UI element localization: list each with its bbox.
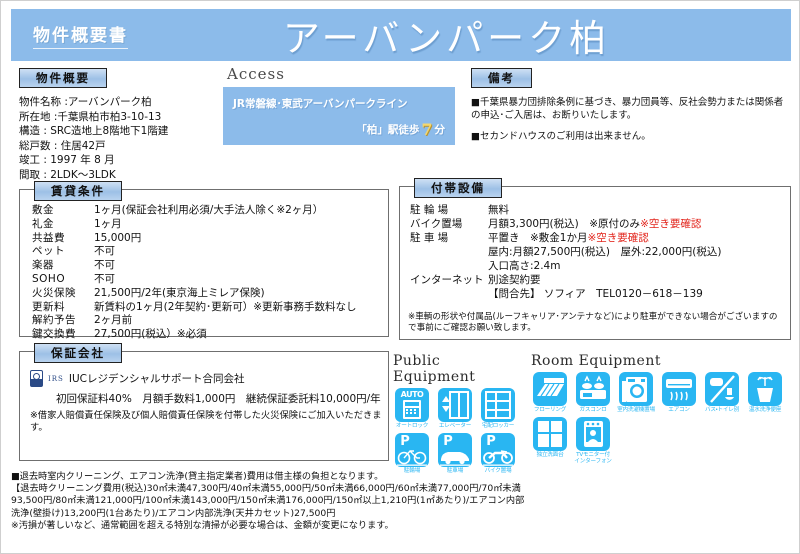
gas-stove-icon (576, 372, 610, 406)
rent-row-value: 新賃料の1ヶ月(2年契約･更新可）※更新事務手数料なし (94, 301, 388, 315)
guarantee-logo-mark: IRS (48, 372, 64, 386)
rent-conditions-list: 敷金 1ヶ月(保証会社利用必須/大手法人除く※2ヶ月） 礼金 1ヶ月 共益費 1… (20, 190, 388, 342)
rent-row-key: 解約予告 (32, 314, 94, 328)
facility-value: 平置き ※敷金1か月※空き要確認 (488, 231, 790, 245)
rent-row: ペット 不可 (32, 245, 388, 259)
rent-row-key: 楽器 (32, 259, 94, 273)
guarantee-company-name: IUCレジデンシャルサポート合同会社 (69, 372, 245, 386)
bottom-note-line: 93,500円/80㎡未満121,000円/100㎡未満143,000円/150… (11, 495, 795, 507)
parking-detail-indoor-outdoor: 屋内:月額27,500円(税込) 屋外:22,000円(税込) (410, 245, 790, 259)
remarks-tab: 備考 (471, 68, 532, 88)
rent-row: 楽器 不可 (32, 259, 388, 273)
equipment-label: エアコン (658, 407, 699, 414)
equipment-label: 独立洗面台 (529, 452, 570, 459)
room-equipment-grid: フローリング ガスコンロ (531, 372, 793, 465)
room-equipment-column: Room Equipment フローリング (531, 353, 793, 474)
rent-row-value: 27,500円(税込）※必須 (94, 328, 388, 342)
remark-item: ■千葉県暴力団排除条例に基づき、暴力団員等、反社会勢力または関係者の申込･ご入居… (471, 96, 791, 122)
rent-row: 火災保険 21,500円/2年(東京海上ミレア保険) (32, 287, 388, 301)
auto-lock-icon: AUTO (395, 388, 429, 422)
equipment-label: バス・トイレ別 (701, 407, 742, 414)
remark-item: ■セカンドハウスのご利用は出来ません。 (471, 130, 791, 143)
facility-vacancy-alert: ※空き要確認 (587, 232, 648, 244)
rent-row: 礼金 1ヶ月 (32, 218, 388, 232)
elevator-icon (438, 388, 472, 422)
equipment-item: P 駐車場 (436, 433, 474, 474)
equipment-item: フローリング (531, 372, 569, 413)
equipment-icons-section: Public Equipment AUTO (393, 353, 793, 463)
rent-row-value: 不可 (94, 245, 388, 259)
guarantee-logo-row: IRS IUCレジデンシャルサポート合同会社 (30, 370, 388, 387)
internet-contact: 【問合先】 ソフィア TEL0120－618－139 (410, 287, 790, 301)
facility-key: 駐 車 場 (410, 231, 488, 245)
rent-row-key: 礼金 (32, 218, 94, 232)
document-subtitle: 物件概要書 (33, 21, 128, 49)
facility-row-bike: バイク置場 月額3,300円(税込) ※原付のみ※空き要確認 (410, 217, 790, 231)
equipment-columns: Public Equipment AUTO (393, 353, 793, 474)
facility-value: 別途契約要 (488, 273, 790, 287)
equipment-label: エレベーター (434, 423, 475, 430)
rent-conditions-panel: 賃貸条件 敷金 1ヶ月(保証会社利用必須/大手法人除く※2ヶ月） 礼金 1ヶ月 … (19, 189, 389, 337)
equipment-item: AUTO オートロック (393, 388, 431, 429)
facility-row-parking: 駐 車 場 平置き ※敷金1か月※空き要確認 (410, 231, 790, 245)
public-equipment-title: Public Equipment (393, 353, 517, 385)
washlet-icon (748, 372, 782, 406)
rent-row-value: 2ヶ月前 (94, 314, 388, 328)
property-summary-lines: 物件名称 :アーバンパーク柏 所在地 :千葉県柏市柏3-10-13 構造 : S… (19, 95, 229, 182)
access-title: Access (227, 65, 455, 83)
air-conditioner-icon (662, 372, 696, 406)
rent-row: 解約予告 2ヶ月前 (32, 314, 388, 328)
equipment-label: 室内洗濯機置場 (615, 407, 656, 414)
property-line: 物件名称 :アーバンパーク柏 (19, 95, 229, 110)
bottom-note-line: 【退去時クリーニング費用(税込)30㎡未満47,300円/40㎡未満55,000… (11, 483, 795, 495)
property-line: 構造 : SRC造地上8階地下1階建 (19, 124, 229, 139)
equipment-label: フローリング (529, 407, 570, 414)
remarks-section: 備考 ■千葉県暴力団排除条例に基づき、暴力団員等、反社会勢力または関係者の申込･… (471, 67, 791, 151)
public-equipment-column: Public Equipment AUTO (393, 353, 517, 474)
property-summary-document: 物件概要書 アーバンパーク柏 物件概要 物件名称 :アーバンパーク柏 所在地 :… (0, 0, 800, 554)
rent-row: 共益費 15,000円 (32, 232, 388, 246)
property-line: 所在地 :千葉県柏市柏3-10-13 (19, 110, 229, 125)
station-walk-prefix: 「柏」駅徒歩 (356, 124, 419, 136)
facility-row-bicycle: 駐 輪 場 無料 (410, 203, 790, 217)
guarantee-note: ※借家人賠償責任保険及び個人賠償責任保険を付帯した火災保険にご加入いただきます。 (30, 410, 388, 433)
property-name-title: アーバンパーク柏 (128, 8, 765, 62)
equipment-label: 宅配ロッカー (477, 423, 518, 430)
car-parking-icon: P (438, 433, 472, 467)
washer-space-icon (619, 372, 653, 406)
facility-value-text: 平置き ※敷金1か月 (488, 232, 587, 244)
rent-row-value: 不可 (94, 273, 388, 287)
rent-row-value: 21,500円/2年(東京海上ミレア保険) (94, 287, 388, 301)
rent-row-key: 共益費 (32, 232, 94, 246)
rent-row: 更新料 新賃料の1ヶ月(2年契約･更新可）※更新事務手数料なし (32, 301, 388, 315)
rent-row: 敷金 1ヶ月(保証会社利用必須/大手法人除く※2ヶ月） (32, 204, 388, 218)
facility-key: 駐 輪 場 (410, 203, 488, 217)
guarantee-logo-icon (30, 370, 43, 387)
equipment-item: バス・トイレ別 (703, 372, 741, 413)
public-equipment-grid: AUTO オートロック (393, 388, 517, 474)
equipment-item: TVモニター付 インターフォン (574, 417, 612, 464)
equipment-label: ガスコンロ (572, 407, 613, 414)
rent-row-key: 更新料 (32, 301, 94, 315)
rent-row-value: 15,000円 (94, 232, 388, 246)
bottom-notes: ■退去時室内クリーニング、エアコン洗浄(貸主指定業者)費用は借主様の負担となりま… (11, 471, 795, 532)
equipment-label: オートロック (391, 423, 432, 430)
rent-row-key: 敷金 (32, 204, 94, 218)
equipment-item: 独立洗面台 (531, 417, 569, 464)
station-walk-suffix: 分 (435, 124, 446, 136)
facilities-note: ※車輌の形状や付属品(ルーフキャリア･アンテナなど)により駐車ができない場合がご… (408, 312, 782, 333)
remarks-body: ■千葉県暴力団排除条例に基づき、暴力団員等、反社会勢力または関係者の申込･ご入居… (471, 96, 791, 143)
access-line-walk: 「柏」駅徒歩7分 (233, 120, 445, 139)
facility-vacancy-alert: ※空き要確認 (640, 218, 701, 230)
room-equipment-title: Room Equipment (531, 353, 793, 369)
facilities-list: 駐 輪 場 無料 バイク置場 月額3,300円(税込) ※原付のみ※空き要確認 … (400, 187, 790, 301)
equipment-item: ガスコンロ (574, 372, 612, 413)
rent-row-value: 不可 (94, 259, 388, 273)
facility-value: 月額3,300円(税込) ※原付のみ※空き要確認 (488, 217, 790, 231)
rent-row-key: 火災保険 (32, 287, 94, 301)
delivery-locker-icon (481, 388, 515, 422)
rent-row: SOHO 不可 (32, 273, 388, 287)
equipment-item: P バイク置場 (479, 433, 517, 474)
guarantee-company-tab: 保証会社 (34, 343, 122, 363)
guarantee-company-panel: 保証会社 IRS IUCレジデンシャルサポート合同会社 初回保証料40% 月額手… (19, 351, 389, 461)
vanity-sink-icon (533, 417, 567, 451)
rent-row-key: SOHO (32, 273, 94, 287)
property-summary-section: 物件概要 物件名称 :アーバンパーク柏 所在地 :千葉県柏市柏3-10-13 構… (19, 67, 229, 182)
equipment-item: エレベーター (436, 388, 474, 429)
facility-row-internet: インターネット 別途契約要 (410, 273, 790, 287)
rent-row-key: ペット (32, 245, 94, 259)
property-line: 間取 : 2LDK～3LDK (19, 168, 229, 183)
rent-row: 鍵交換費 27,500円(税込）※必須 (32, 328, 388, 342)
bike-parking-icon: P (481, 433, 515, 467)
flooring-icon (533, 372, 567, 406)
access-line-route: JR常磐線･東武アーバンパークライン (233, 96, 445, 111)
equipment-item: 温水洗浄便座 (746, 372, 784, 413)
bottom-note-line: ■退去時室内クリーニング、エアコン洗浄(貸主指定業者)費用は借主様の負担となりま… (11, 471, 795, 483)
parking-detail-height: 入口高さ:2.4m (410, 259, 790, 273)
facility-key: インターネット (410, 273, 488, 287)
property-line: 総戸数 : 住居42戸 (19, 139, 229, 154)
equipment-item: 宅配ロッカー (479, 388, 517, 429)
rent-conditions-tab: 賃貸条件 (34, 181, 122, 201)
facility-value-text: 月額3,300円(税込) ※原付のみ (488, 218, 640, 230)
access-section: Access JR常磐線･東武アーバンパークライン 「柏」駅徒歩7分 (223, 65, 455, 145)
walk-minutes-value: 7 (419, 120, 434, 139)
rent-row-key: 鍵交換費 (32, 328, 94, 342)
bath-toilet-separate-icon (705, 372, 739, 406)
equipment-item: エアコン (660, 372, 698, 413)
tv-intercom-icon (576, 417, 610, 451)
access-box: JR常磐線･東武アーバンパークライン 「柏」駅徒歩7分 (223, 87, 455, 145)
bottom-note-line: 洗浄(壁掛け)13,200円(1台あたり)/エアコン内部洗浄(天井カセット)27… (11, 508, 795, 520)
facilities-panel: 付帯設備 駐 輪 場 無料 バイク置場 月額3,300円(税込) ※原付のみ※空… (399, 186, 791, 340)
facilities-tab: 付帯設備 (414, 178, 502, 198)
rent-row-value: 1ヶ月 (94, 218, 388, 232)
guarantee-body: IRS IUCレジデンシャルサポート合同会社 初回保証料40% 月額手数料1,0… (20, 352, 388, 433)
equipment-label: TVモニター付 インターフォン (572, 452, 613, 465)
bottom-note-line: ※汚損が著しいなど、通常範囲を超える特別な清掃が必要な場合は、金額が変更になりま… (11, 520, 795, 532)
property-line: 竣工 : 1997 年 8 月 (19, 153, 229, 168)
equipment-item: P 駐輪場 (393, 433, 431, 474)
document-header: 物件概要書 アーバンパーク柏 (11, 9, 791, 61)
rent-row-value: 1ヶ月(保証会社利用必須/大手法人除く※2ヶ月） (94, 204, 388, 218)
equipment-label: 温水洗浄便座 (744, 407, 785, 414)
guarantee-fees: 初回保証料40% 月額手数料1,000円 継続保証委託料10,000円/年 (30, 392, 388, 406)
bicycle-parking-icon: P (395, 433, 429, 467)
property-summary-tab: 物件概要 (19, 68, 107, 88)
facility-key: バイク置場 (410, 217, 488, 231)
equipment-item: 室内洗濯機置場 (617, 372, 655, 413)
facility-value: 無料 (488, 203, 790, 217)
